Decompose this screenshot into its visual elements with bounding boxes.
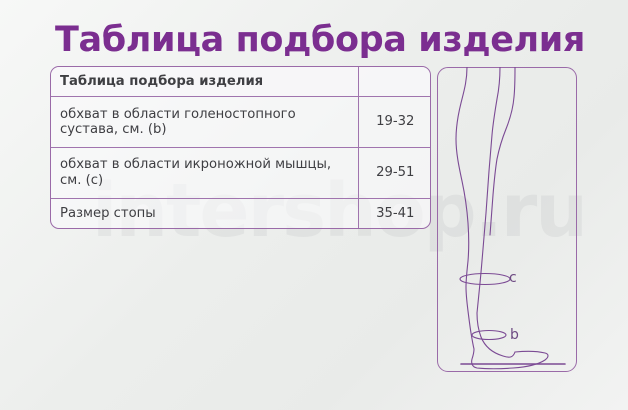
row-label-calf: обхват в области икроножной мышцы, см. (…: [51, 147, 358, 198]
row-label-foot-size: Размер стопы: [51, 198, 358, 228]
screenshot-stage: intershop.ru Таблица подбора изделия Таб…: [0, 0, 628, 410]
table-header-value: [358, 67, 431, 97]
table-header-row: Таблица подбора изделия: [51, 67, 431, 97]
size-selection-table: Таблица подбора изделия обхват в области…: [50, 66, 431, 229]
table-header-label: Таблица подбора изделия: [51, 67, 358, 97]
table-row: обхват в области икроножной мышцы, см. (…: [51, 147, 431, 198]
row-value-ankle: 19-32: [358, 97, 431, 148]
table-row: Размер стопы 35-41: [51, 198, 431, 228]
row-value-calf: 29-51: [358, 147, 431, 198]
ankle-measure-label: b: [510, 327, 519, 343]
leg-outline-icon: [437, 67, 577, 372]
row-value-foot-size: 35-41: [358, 198, 431, 228]
row-label-ankle: обхват в области голеностопного сустава,…: [51, 97, 358, 148]
calf-measure-label: c: [509, 270, 517, 286]
table-row: обхват в области голеностопного сустава,…: [51, 97, 431, 148]
page-title: Таблица подбора изделия: [55, 19, 595, 61]
